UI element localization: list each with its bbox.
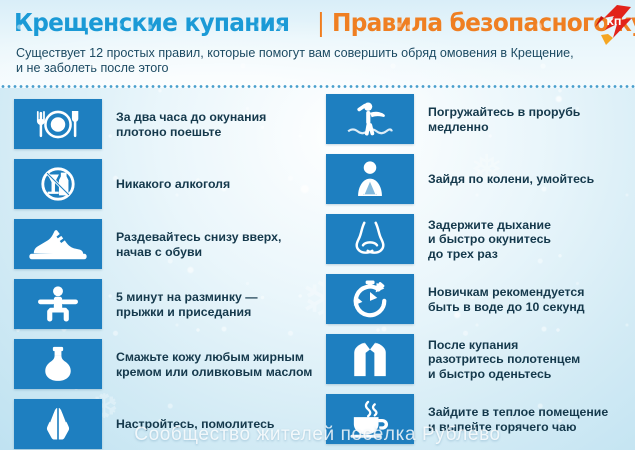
rules-column-left: За два часа до окунания плотоно поешьте — [14, 88, 329, 450]
rule-item: Настройтесь, помолитесь — [14, 399, 329, 449]
subtitle-line-1: Существует 12 простых правил, которые по… — [16, 46, 574, 60]
rule-text: Никакого алкоголя — [102, 176, 329, 192]
rule-item: Зайдите в теплое помещение и выпейте гор… — [326, 394, 635, 444]
rule-text: Смажьте кожу любым жирным кремом или оли… — [102, 349, 329, 379]
infographic-poster: ❄ ❅ ❆ Крещенские купания | Правила безоп… — [0, 0, 635, 450]
poster-subtitle: Существует 12 простых правил, которые по… — [16, 46, 616, 76]
washing-person-icon — [326, 154, 414, 204]
rule-item: 5 минут на разминку — прыжки и приседани… — [14, 279, 329, 329]
title-main-text: Крещенские купания — [14, 8, 289, 37]
rule-item: Смажьте кожу любым жирным кремом или оли… — [14, 339, 329, 389]
rule-item: Задержите дыхание и быстро окунитесь до … — [326, 214, 635, 264]
tea-cup-icon — [326, 394, 414, 444]
rule-text: За два часа до окунания плотоно поешьте — [102, 109, 329, 139]
rule-text: Погружайтесь в прорубь медленно — [414, 104, 635, 134]
rule-item: Погружайтесь в прорубь медленно — [326, 94, 635, 144]
poster-title: Крещенские купания | Правила безопасного… — [14, 8, 635, 37]
oil-flask-icon — [14, 339, 102, 389]
svg-text:КП: КП — [607, 18, 622, 28]
title-divider: | — [317, 8, 324, 37]
poster-header: Крещенские купания | Правила безопасного… — [0, 0, 635, 88]
rule-text: Раздевайтесь снизу вверх, начав с обуви — [102, 229, 329, 259]
jacket-icon — [326, 334, 414, 384]
rule-item: За два часа до окунания плотоно поешьте — [14, 99, 329, 149]
rule-text: Новичкам рекомендуется быть в воде до 10… — [414, 284, 635, 314]
praying-hands-icon — [14, 399, 102, 449]
rule-text: Задержите дыхание и быстро окунитесь до … — [414, 217, 635, 262]
no-alcohol-icon — [14, 159, 102, 209]
sneaker-icon — [14, 219, 102, 269]
kp-logo: КП — [587, 4, 633, 46]
rule-text: Настройтесь, помолитесь — [102, 416, 329, 432]
rule-item: Зайдя по колени, умойтесь — [326, 154, 635, 204]
nose-icon — [326, 214, 414, 264]
rule-text: Зайдите в теплое помещение и выпейте гор… — [414, 404, 635, 434]
rules-columns: За два часа до окунания плотоно поешьте — [0, 88, 635, 450]
plate-cutlery-icon — [14, 99, 102, 149]
person-entering-water-icon — [326, 94, 414, 144]
subtitle-line-2: и не заболеть после этого — [16, 61, 169, 75]
rule-item: Никакого алкоголя — [14, 159, 329, 209]
rule-text: Зайдя по колени, умойтесь — [414, 171, 635, 187]
stopwatch-icon — [326, 274, 414, 324]
rule-item: Новичкам рекомендуется быть в воде до 10… — [326, 274, 635, 324]
rule-item: После купания разотритесь полотенцем и б… — [326, 334, 635, 384]
rule-text: После купания разотритесь полотенцем и б… — [414, 337, 635, 382]
rules-column-right: Погружайтесь в прорубь медленно — [326, 88, 635, 450]
exercising-person-icon — [14, 279, 102, 329]
rule-text: 5 минут на разминку — прыжки и приседани… — [102, 289, 329, 319]
rule-item: Раздевайтесь снизу вверх, начав с обуви — [14, 219, 329, 269]
